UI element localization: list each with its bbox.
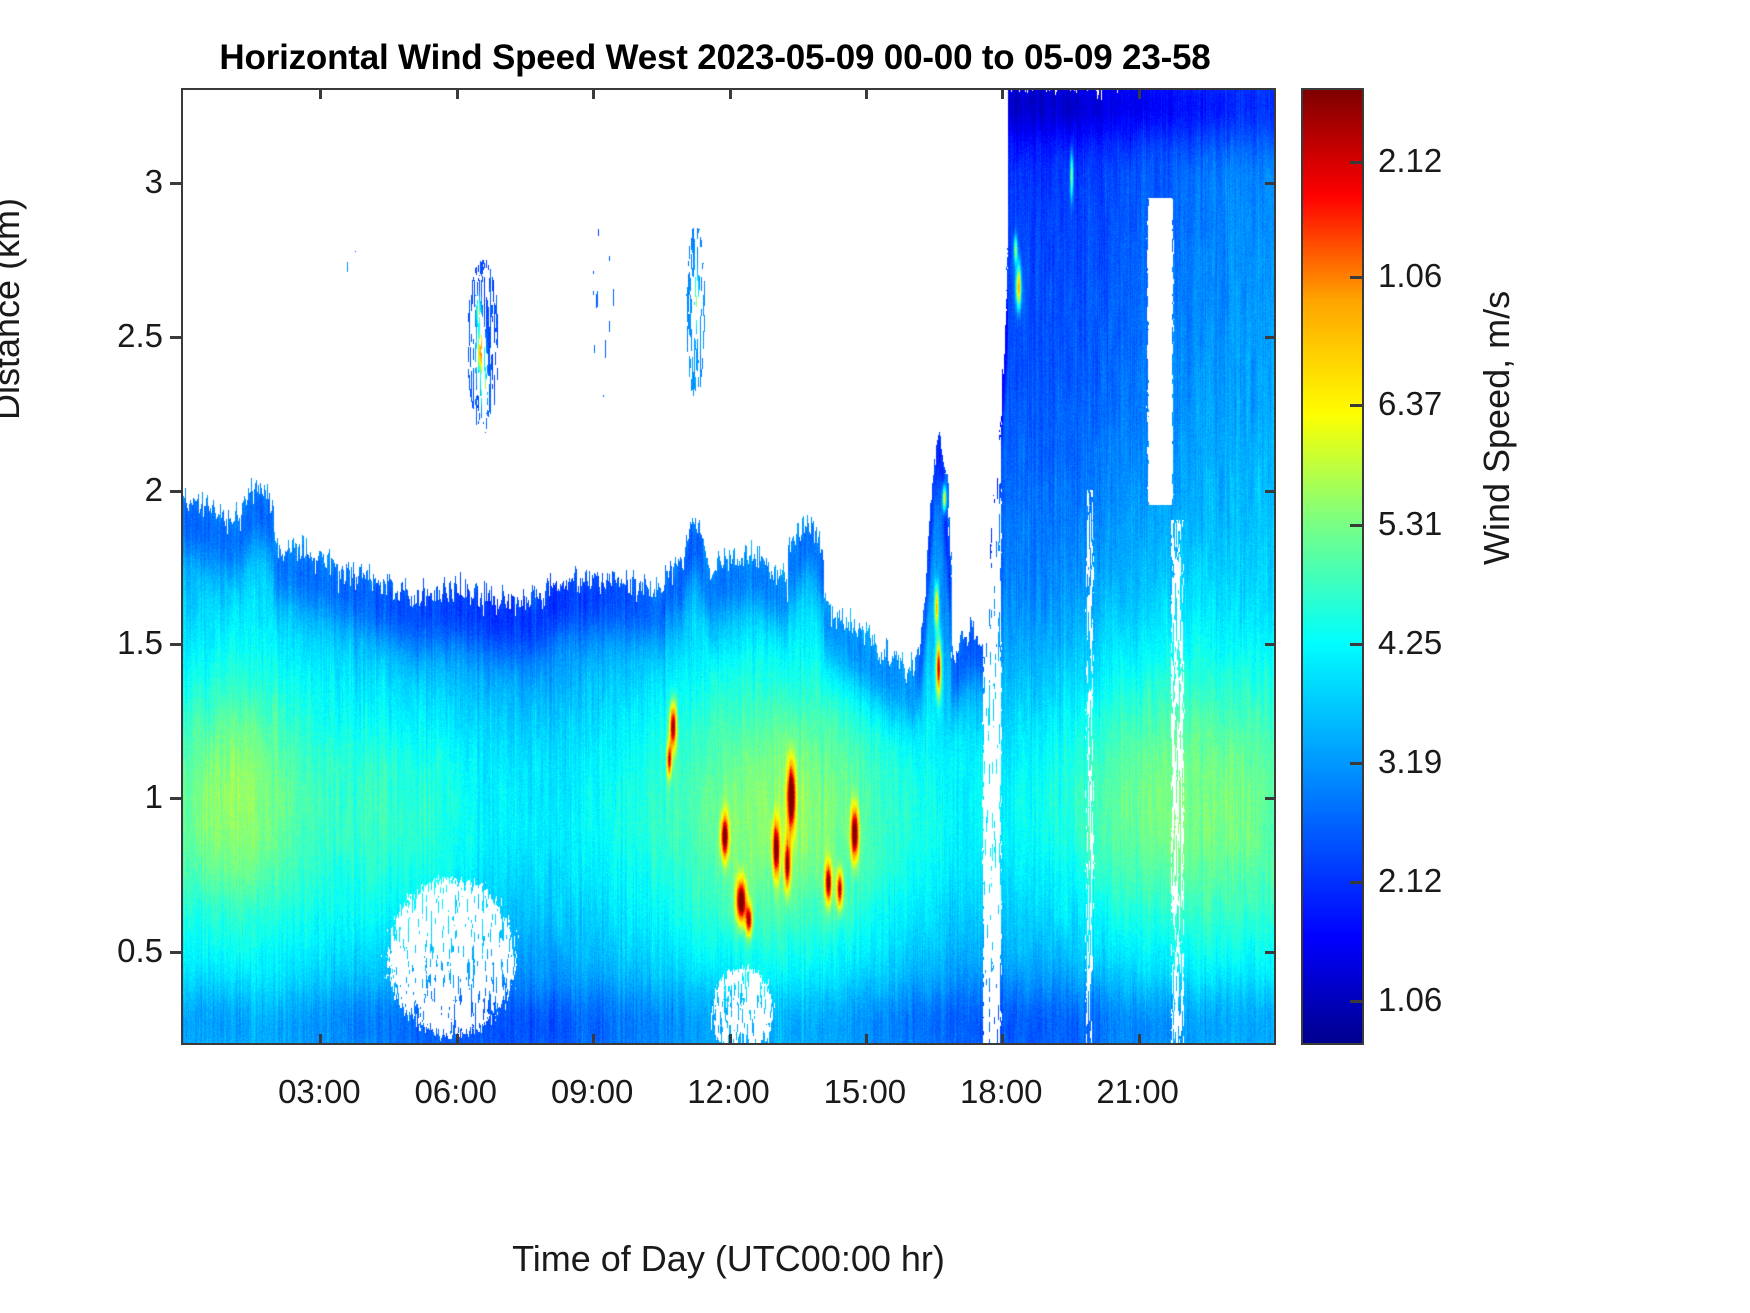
y-tick-mark	[170, 490, 181, 493]
y-tick-mark	[170, 951, 181, 954]
colorbar-tick-label: 2.12	[1378, 862, 1442, 900]
x-tick-mark-top	[729, 88, 732, 99]
x-tick-label: 21:00	[1096, 1073, 1179, 1111]
colorbar-tick-mark	[1350, 643, 1364, 646]
heatmap-image	[183, 90, 1274, 1043]
x-tick-mark	[729, 1034, 732, 1045]
x-tick-mark	[1138, 1034, 1141, 1045]
y-tick-mark	[170, 336, 181, 339]
figure-canvas: Horizontal Wind Speed West 2023-05-09 00…	[0, 0, 1750, 1313]
page-title: Horizontal Wind Speed West 2023-05-09 00…	[0, 38, 1430, 78]
x-tick-mark-top	[865, 88, 868, 99]
y-tick-label: 1	[145, 778, 163, 816]
y-tick-label: 1.5	[117, 624, 163, 662]
colorbar-tick-label: 1.06	[1378, 981, 1442, 1019]
x-tick-mark-top	[456, 88, 459, 99]
x-tick-mark	[592, 1034, 595, 1045]
colorbar-tick-mark	[1350, 881, 1364, 884]
y-tick-label: 3	[145, 163, 163, 201]
y-tick-label: 0.5	[117, 932, 163, 970]
y-tick-label: 2.5	[117, 317, 163, 355]
x-tick-mark	[865, 1034, 868, 1045]
colorbar-tick-mark	[1350, 1000, 1364, 1003]
x-axis-label: Time of Day (UTC00:00 hr)	[181, 1238, 1276, 1280]
colorbar-tick-mark	[1350, 404, 1364, 407]
colorbar-tick-label: 1.06	[1378, 257, 1442, 295]
y-tick-mark	[170, 182, 181, 185]
plot-axes	[181, 88, 1276, 1045]
x-tick-mark	[319, 1034, 322, 1045]
y-tick-mark	[170, 643, 181, 646]
x-tick-mark-top	[592, 88, 595, 99]
x-tick-label: 06:00	[414, 1073, 497, 1111]
colorbar-tick-label: 2.12	[1378, 142, 1442, 180]
colorbar-tick-mark	[1350, 762, 1364, 765]
x-tick-label: 03:00	[278, 1073, 361, 1111]
x-tick-mark-top	[319, 88, 322, 99]
x-tick-mark-top	[1138, 88, 1141, 99]
y-tick-mark	[170, 797, 181, 800]
y-tick-mark-right	[1265, 490, 1276, 493]
colorbar-label: Wind Speed, m/s	[1476, 291, 1518, 565]
y-tick-mark-right	[1265, 797, 1276, 800]
colorbar-tick-mark	[1350, 524, 1364, 527]
x-tick-label: 15:00	[824, 1073, 907, 1111]
x-tick-mark-top	[1001, 88, 1004, 99]
x-tick-mark	[456, 1034, 459, 1045]
colorbar-tick-mark	[1350, 161, 1364, 164]
y-tick-mark-right	[1265, 336, 1276, 339]
colorbar	[1301, 88, 1364, 1045]
x-tick-label: 12:00	[687, 1073, 770, 1111]
colorbar-tick-label: 6.37	[1378, 385, 1442, 423]
y-axis-label: Distance (km)	[0, 198, 28, 420]
x-tick-label: 09:00	[551, 1073, 634, 1111]
y-tick-mark-right	[1265, 182, 1276, 185]
y-tick-mark-right	[1265, 951, 1276, 954]
colorbar-tick-label: 5.31	[1378, 505, 1442, 543]
y-tick-mark-right	[1265, 643, 1276, 646]
colorbar-tick-label: 3.19	[1378, 743, 1442, 781]
colorbar-tick-mark	[1350, 276, 1364, 279]
x-tick-mark	[1001, 1034, 1004, 1045]
x-tick-label: 18:00	[960, 1073, 1043, 1111]
colorbar-gradient	[1303, 90, 1362, 1043]
y-tick-label: 2	[145, 471, 163, 509]
colorbar-tick-label: 4.25	[1378, 624, 1442, 662]
